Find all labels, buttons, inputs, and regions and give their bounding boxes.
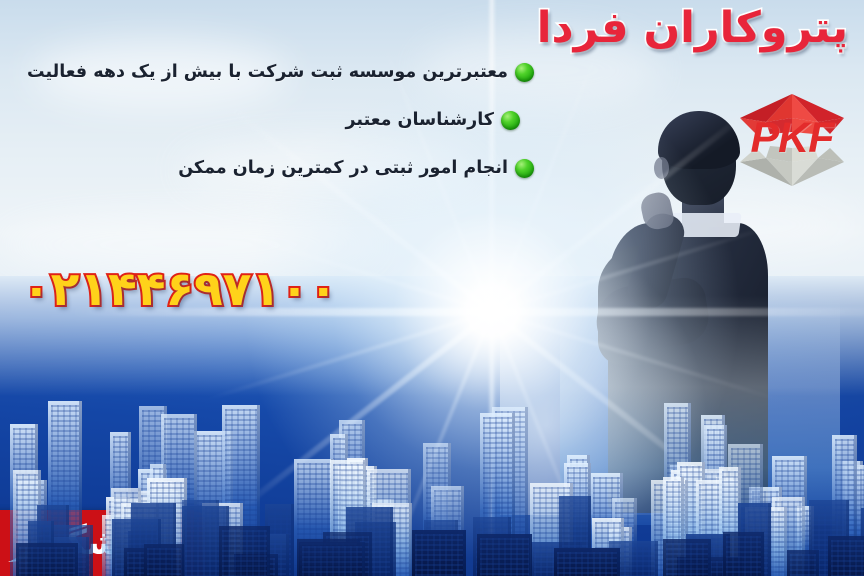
green-bullet-icon bbox=[501, 111, 520, 130]
advertisement-banner: پتروکاران فردا معتبرترین موسسه ثبت شرکت … bbox=[0, 0, 864, 576]
list-item-label: کارشناسان معتبر bbox=[346, 110, 494, 130]
pkf-logo-text: PKF bbox=[726, 114, 858, 163]
list-item: معتبرترین موسسه ثبت شرکت با بیش از یک ده… bbox=[64, 62, 534, 82]
building bbox=[144, 544, 184, 576]
building bbox=[723, 532, 764, 576]
list-item: کارشناسان معتبر bbox=[64, 110, 520, 130]
feature-bullet-list: معتبرترین موسسه ثبت شرکت با بیش از یک ده… bbox=[64, 62, 534, 206]
building bbox=[477, 534, 532, 576]
building bbox=[554, 548, 619, 576]
building bbox=[663, 539, 711, 576]
building bbox=[412, 530, 466, 576]
cityscape-background bbox=[0, 276, 864, 576]
cloud-wisp bbox=[600, 190, 860, 260]
building bbox=[787, 550, 819, 576]
building bbox=[299, 542, 365, 576]
green-bullet-icon bbox=[515, 63, 534, 82]
pkf-logo: PKF bbox=[726, 88, 858, 194]
phone-number: ۰۲۱۴۴۶۹۷۱۰۰ bbox=[22, 262, 338, 317]
list-item: انجام امور ثبتی در کمترین زمان ممکن bbox=[64, 158, 534, 178]
list-item-label: معتبرترین موسسه ثبت شرکت با بیش از یک ده… bbox=[27, 62, 508, 82]
building bbox=[219, 526, 270, 576]
building bbox=[16, 543, 79, 576]
building bbox=[828, 536, 864, 576]
list-item-label: انجام امور ثبتی در کمترین زمان ممکن bbox=[178, 158, 508, 178]
banner-title: پتروکاران فردا bbox=[537, 2, 848, 54]
green-bullet-icon bbox=[515, 159, 534, 178]
